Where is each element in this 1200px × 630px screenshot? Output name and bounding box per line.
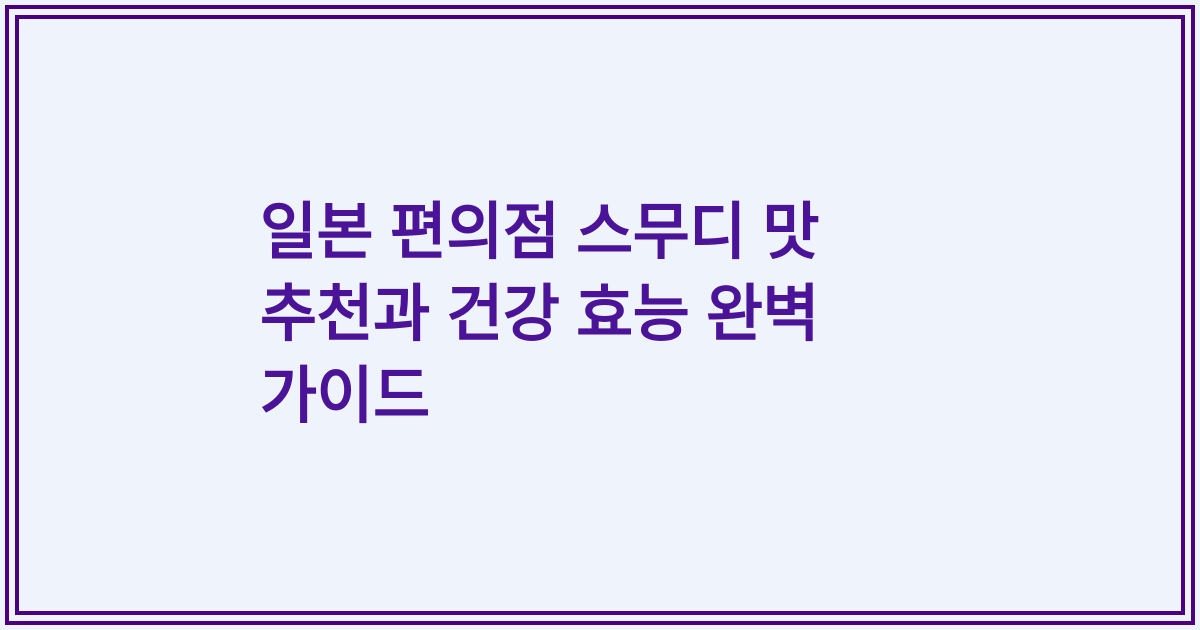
page-title-line: 일본 편의점 스무디 맛 [260, 198, 819, 267]
page-title: 일본 편의점 스무디 맛추천과 건강 효능 완벽가이드 [260, 192, 819, 437]
og-card: 일본 편의점 스무디 맛추천과 건강 효능 완벽가이드 [0, 0, 1200, 630]
page-title-line: 가이드 [260, 362, 430, 431]
title-block: 일본 편의점 스무디 맛추천과 건강 효능 완벽가이드 [260, 192, 940, 437]
page-title-line: 추천과 건강 효능 완벽 [260, 280, 819, 349]
